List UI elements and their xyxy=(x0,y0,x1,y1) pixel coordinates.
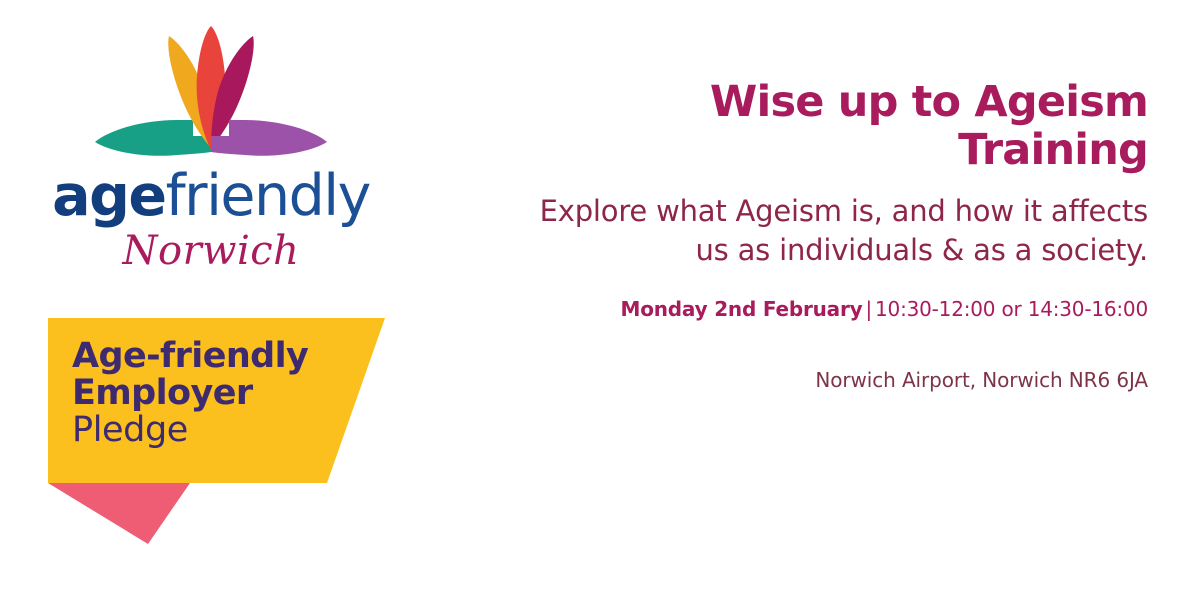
event-poster: agefriendly Norwich Age-friendly Employe… xyxy=(0,0,1200,600)
pledge-tail-shape xyxy=(48,483,190,544)
event-venue: Norwich Airport, Norwich NR6 6JA xyxy=(508,368,1148,392)
flower-logo-icon xyxy=(81,24,341,164)
event-datetime: Monday 2nd February|10:30-12:00 or 14:30… xyxy=(508,296,1148,322)
wordmark-age: age xyxy=(52,163,165,229)
wordmark-friendly: friendly xyxy=(166,163,370,229)
pledge-line-3: Pledge xyxy=(72,412,352,449)
event-title: Wise up to Ageism Training xyxy=(508,78,1148,174)
wordmark-place: Norwich xyxy=(36,231,386,271)
event-subtitle: Explore what Ageism is, and how it affec… xyxy=(508,192,1148,270)
pledge-line-1: Age-friendly xyxy=(72,338,352,375)
event-details-column: Wise up to Ageism Training Explore what … xyxy=(508,78,1148,392)
pledge-text-block: Age-friendly Employer Pledge xyxy=(72,338,352,449)
datetime-separator: | xyxy=(862,297,875,321)
agefriendly-norwich-logo: agefriendly Norwich xyxy=(36,24,386,271)
petal-purple-shape xyxy=(211,120,327,156)
wordmark: agefriendly xyxy=(36,168,386,225)
event-times: 10:30-12:00 or 14:30-16:00 xyxy=(875,297,1148,321)
event-date: Monday 2nd February xyxy=(621,297,863,321)
pledge-line-2: Employer xyxy=(72,375,352,412)
age-friendly-employer-pledge-badge: Age-friendly Employer Pledge xyxy=(40,312,400,562)
brand-column: agefriendly Norwich Age-friendly Employe… xyxy=(0,0,420,600)
petal-teal-shape xyxy=(95,120,211,156)
